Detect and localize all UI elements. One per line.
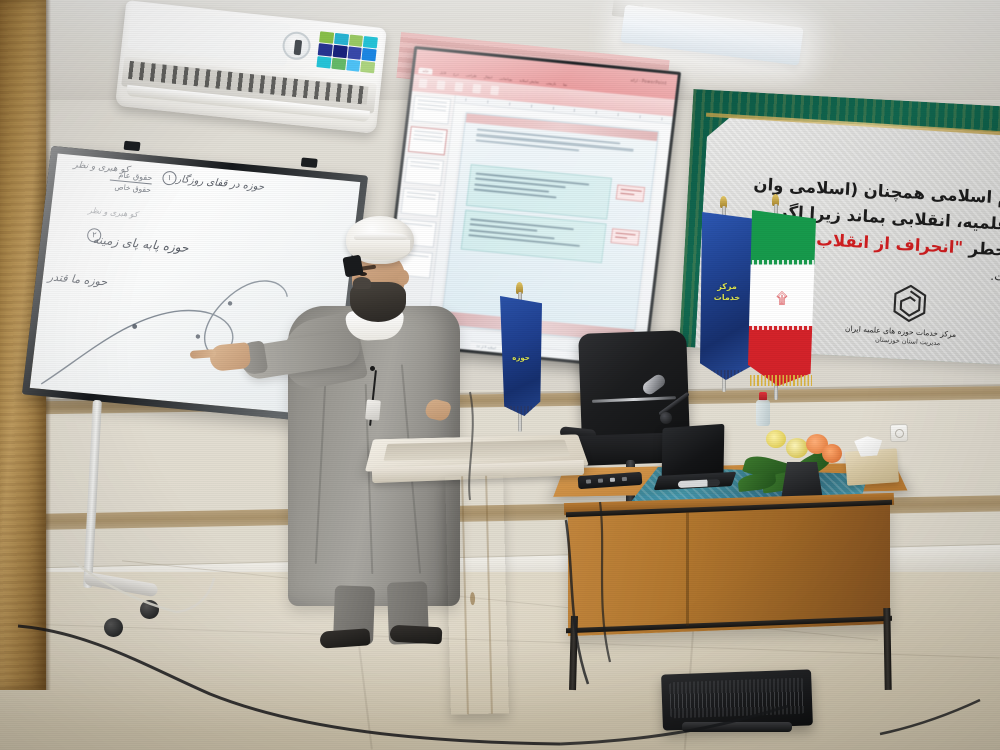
microphone-shaft xyxy=(666,420,671,506)
speaker-grill xyxy=(669,678,804,719)
tab-slideshow[interactable]: نمایش اسلاید xyxy=(519,78,539,84)
slide-thumbnail[interactable] xyxy=(411,95,451,124)
banner-logo: مرکز خدمات حوزه های علمیه ایران مدیریت ا… xyxy=(860,280,959,348)
desk-leg xyxy=(883,608,891,690)
kufic-band-bottom xyxy=(752,322,820,330)
hexagonal-spiral-logo-icon xyxy=(888,281,932,325)
slide-thumbnail-selected[interactable] xyxy=(408,126,448,155)
podium-stem xyxy=(445,475,509,714)
toolbar-button[interactable] xyxy=(454,82,463,92)
ac-decal-tiles xyxy=(316,31,378,73)
toolbar-button[interactable] xyxy=(436,80,445,90)
presenter-ear xyxy=(398,270,409,285)
tissue-box[interactable] xyxy=(845,448,899,486)
presenter-shoe xyxy=(319,628,370,648)
tab-insert[interactable]: درج xyxy=(453,71,459,76)
presenter-badge xyxy=(365,399,381,420)
flag-emblem: مرکز خدمات xyxy=(704,282,750,304)
tab-animations[interactable]: پویانمایی xyxy=(499,76,513,81)
desk-panel-seam xyxy=(686,512,689,626)
speaker-stand xyxy=(682,722,792,732)
tab-design[interactable]: طراحی xyxy=(466,73,477,78)
tab-review[interactable]: بازبینی xyxy=(546,80,556,85)
stand-caster xyxy=(104,618,123,637)
flag-gold-fringe xyxy=(750,375,812,386)
iran-national-flag: ۩ xyxy=(746,194,818,402)
kufic-band-top xyxy=(752,260,820,268)
window-title: ارائه - PowerPoint xyxy=(630,77,667,86)
flag-emblem: حوزه xyxy=(504,354,538,363)
whiteboard-clip xyxy=(301,157,318,167)
desk-front-panel xyxy=(568,502,890,636)
wood-knot xyxy=(470,592,475,605)
wooden-podium[interactable] xyxy=(370,420,590,720)
toolbar-button[interactable] xyxy=(419,79,428,89)
toolbar-button[interactable] xyxy=(490,86,499,96)
whiteboard-clip xyxy=(124,141,141,151)
flag-cloth: ۩ xyxy=(748,210,816,386)
lecture-hall-photo: ارائه - PowerPoint خانه فایل درج طراحی ا… xyxy=(0,0,1000,750)
presenter-desk[interactable] xyxy=(560,456,910,706)
tab-file[interactable]: فایل xyxy=(439,70,446,75)
toolbar-button[interactable] xyxy=(472,84,481,94)
tab-home[interactable]: خانه xyxy=(418,67,433,74)
iran-emblem-icon: ۩ xyxy=(774,290,790,308)
slide-thumbnail[interactable] xyxy=(404,157,444,186)
presenter-beard xyxy=(350,282,406,322)
microphone-head xyxy=(640,372,667,397)
banner-line-3-prefix: خطر xyxy=(962,238,1000,259)
wall-socket-right[interactable] xyxy=(890,424,908,442)
tab-transitions[interactable]: انتقال xyxy=(484,74,493,79)
podium-blue-flag: حوزه xyxy=(498,282,544,432)
tab-view[interactable]: نما xyxy=(563,82,568,86)
slide-badge xyxy=(610,228,640,246)
slide-thumbnail[interactable] xyxy=(400,188,440,217)
stand-caster xyxy=(140,600,159,619)
slide-badge xyxy=(616,184,646,202)
flag-cloth: حوزه xyxy=(500,296,542,416)
banner-highlight-text: "انحراف از انقلاب" xyxy=(807,230,963,258)
handheld-device xyxy=(342,255,363,278)
presenter-hand xyxy=(209,342,251,372)
